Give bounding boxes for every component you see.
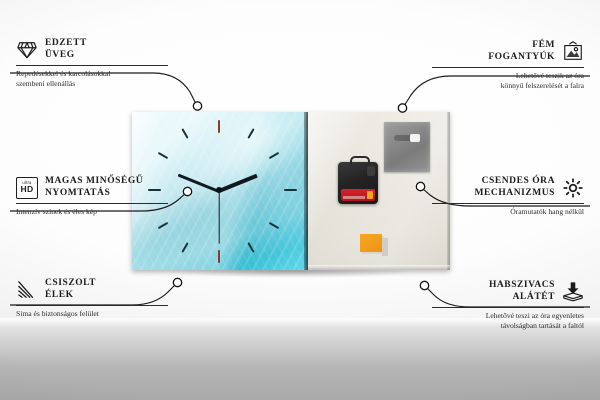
- callout-title-line1: CSENDES ÓRA: [475, 176, 555, 188]
- callout-header: CSISZOLT ÉLEK: [16, 278, 168, 301]
- battery: [341, 189, 375, 201]
- callout-divider: [16, 65, 168, 66]
- mechanism-hook: [350, 156, 370, 166]
- background-floor: [0, 318, 600, 400]
- clock-center-hub: [216, 187, 222, 193]
- product-image: [132, 112, 450, 270]
- callout-title-line2: MECHANIZMUS: [475, 188, 555, 200]
- callout-high-quality-print[interactable]: ultra HD MAGAS MINŐSÉGŰ NYOMTATÁS Intenz…: [16, 176, 168, 217]
- callout-foam-pad[interactable]: HABSZIVACS ALÁTÉT Lehetővé teszi az óra …: [432, 280, 584, 330]
- hanger-slot: [394, 135, 420, 141]
- callout-desc-line2: szembeni ellenállás: [16, 79, 168, 89]
- callout-title-line1: CSISZOLT: [45, 278, 96, 290]
- mechanism-notch: [367, 166, 375, 176]
- callout-metal-handles[interactable]: FÉM FOGANTYÚK Lehetővé teszik az óra kön…: [432, 40, 584, 90]
- metal-hanger-plate: [384, 122, 430, 172]
- callout-divider: [16, 203, 168, 204]
- callout-title-line2: ÜVEG: [45, 50, 87, 62]
- clock-back-panel: [308, 112, 450, 270]
- callout-divider: [432, 67, 584, 68]
- callout-title-line1: EDZETT: [45, 38, 87, 50]
- ultra-hd-badge-icon: ultra HD: [16, 177, 38, 199]
- callout-header: ultra HD MAGAS MINŐSÉGŰ NYOMTATÁS: [16, 176, 168, 199]
- gear-icon: [562, 177, 584, 199]
- callout-header: CSENDES ÓRA MECHANIZMUS: [432, 176, 584, 199]
- callout-desc-line1: Repedésekkel és karcolásokkal: [16, 69, 168, 79]
- callout-title-line1: FÉM: [488, 40, 555, 52]
- foam-pad-arrow-icon: [562, 281, 584, 303]
- callout-desc-line1: Sima és biztonságos felület: [16, 309, 168, 319]
- foam-pad: [360, 234, 382, 252]
- callout-desc-line1: Óramutatók hang nélkül: [432, 207, 584, 217]
- callout-title-line1: MAGAS MINŐSÉGŰ: [45, 176, 143, 188]
- callout-title-line1: HABSZIVACS: [489, 280, 555, 292]
- callout-divider: [16, 305, 168, 306]
- callout-title-line2: FOGANTYÚK: [488, 52, 555, 64]
- infographic-canvas: EDZETT ÜVEG Repedésekkel és karcolásokka…: [0, 0, 600, 400]
- callout-silent-mechanism[interactable]: CSENDES ÓRA MECHANIZMUS Óramutatók hang …: [432, 176, 584, 217]
- polished-edges-icon: [16, 279, 38, 301]
- callout-title-line2: ALÁTÉT: [489, 292, 555, 304]
- callout-desc-line1: Lehetővé teszik az óra: [432, 71, 584, 81]
- diamond-icon: [16, 39, 38, 61]
- callout-header: FÉM FOGANTYÚK: [432, 40, 584, 63]
- callout-header: EDZETT ÜVEG: [16, 38, 168, 61]
- callout-polished-edges[interactable]: CSISZOLT ÉLEK Sima és biztonságos felüle…: [16, 278, 168, 319]
- callout-title-line2: NYOMTATÁS: [45, 188, 143, 200]
- callout-divider: [432, 203, 584, 204]
- callout-divider: [432, 307, 584, 308]
- callout-desc-line1: Lehetővé teszi az óra egyenletes: [432, 311, 584, 321]
- callout-title-line2: ÉLEK: [45, 290, 96, 302]
- picture-hanger-icon: [562, 41, 584, 63]
- callout-tempered-glass[interactable]: EDZETT ÜVEG Repedésekkel és karcolásokka…: [16, 38, 168, 88]
- badge-large-text: HD: [21, 185, 34, 194]
- back-panel-bottom-edge: [308, 265, 450, 270]
- callout-desc-line1: Intenzív színek és éles kép: [16, 207, 168, 217]
- clock-mechanism: [338, 162, 378, 204]
- callout-desc-line2: könnyű felszerelését a falra: [432, 81, 584, 91]
- callout-header: HABSZIVACS ALÁTÉT: [432, 280, 584, 303]
- second-hand: [218, 191, 219, 243]
- callout-desc-line2: távolságban tartását a faltól: [432, 321, 584, 331]
